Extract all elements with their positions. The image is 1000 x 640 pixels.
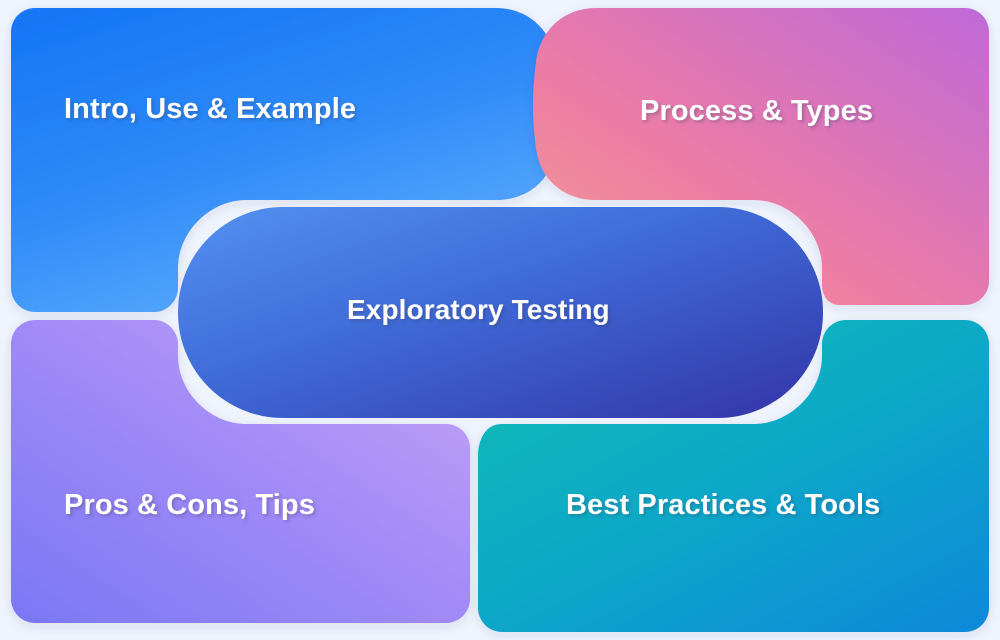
center-node-shape[interactable] [178,207,823,418]
diagram-canvas: Intro, Use & Example Process & Types Pro… [0,0,1000,640]
diagram-shapes [0,0,1000,640]
